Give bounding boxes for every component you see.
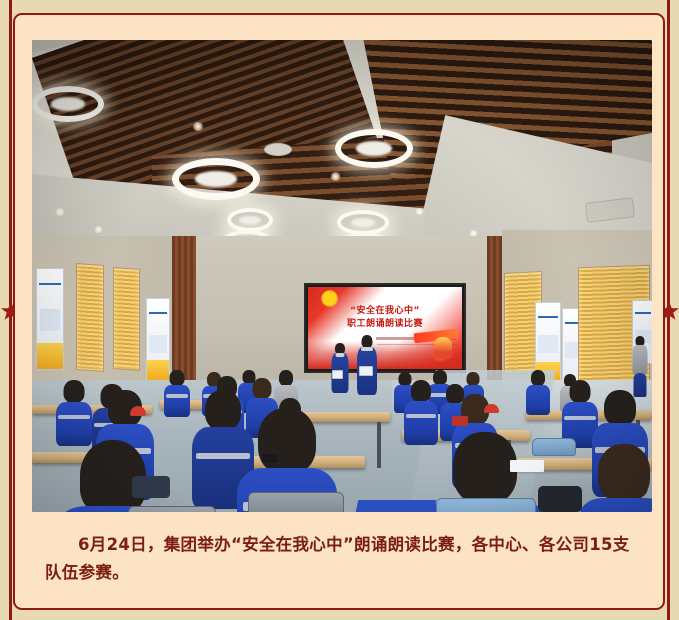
event-photo: “安全在我心中” 职工朗诵朗读比赛 bbox=[32, 40, 652, 512]
attendee-foreground bbox=[580, 444, 652, 512]
notebook bbox=[350, 500, 437, 512]
ring-light bbox=[227, 208, 273, 232]
downlight bbox=[415, 208, 424, 215]
phone bbox=[262, 454, 278, 463]
screen-mascot bbox=[434, 337, 452, 359]
attendee bbox=[56, 380, 92, 444]
downlight bbox=[94, 226, 103, 233]
chair bbox=[436, 498, 536, 512]
attendee bbox=[526, 370, 550, 414]
attendee bbox=[164, 370, 190, 414]
chair bbox=[248, 492, 344, 512]
content-frame: “安全在我心中” 职工朗诵朗读比赛 bbox=[13, 13, 665, 610]
wall-poster bbox=[36, 268, 64, 370]
desk-leg bbox=[377, 422, 381, 468]
downlight bbox=[192, 122, 204, 131]
photo-caption: 6月24日，集团举办“安全在我心中”朗诵朗读比赛，各中心、各公司15支队伍参赛。 bbox=[45, 531, 640, 587]
screen-title-line-1: “安全在我心中” bbox=[308, 303, 462, 316]
ring-light bbox=[172, 158, 260, 200]
red-helmet bbox=[130, 406, 146, 416]
ring-light bbox=[337, 210, 389, 235]
window-blind bbox=[76, 263, 104, 372]
chair bbox=[128, 506, 216, 512]
downlight bbox=[55, 208, 65, 216]
standing-staff bbox=[632, 336, 648, 398]
ceiling-vent bbox=[264, 143, 292, 156]
projection-screen: “安全在我心中” 职工朗诵朗读比赛 bbox=[304, 283, 466, 373]
screen-title-line-2: 职工朗诵朗读比赛 bbox=[308, 316, 462, 329]
red-helmet bbox=[484, 404, 499, 413]
presenter bbox=[331, 343, 349, 401]
bag bbox=[538, 486, 582, 512]
article-card: “安全在我心中” 职工朗诵朗读比赛 bbox=[0, 0, 679, 620]
chair bbox=[532, 438, 576, 456]
ring-light bbox=[32, 86, 104, 122]
paper-sheet bbox=[510, 460, 544, 472]
ring-light bbox=[335, 129, 413, 168]
bag bbox=[132, 476, 170, 498]
downlight bbox=[330, 172, 341, 181]
red-folder bbox=[452, 416, 468, 426]
window-blind bbox=[113, 267, 140, 371]
presenter bbox=[356, 335, 378, 405]
